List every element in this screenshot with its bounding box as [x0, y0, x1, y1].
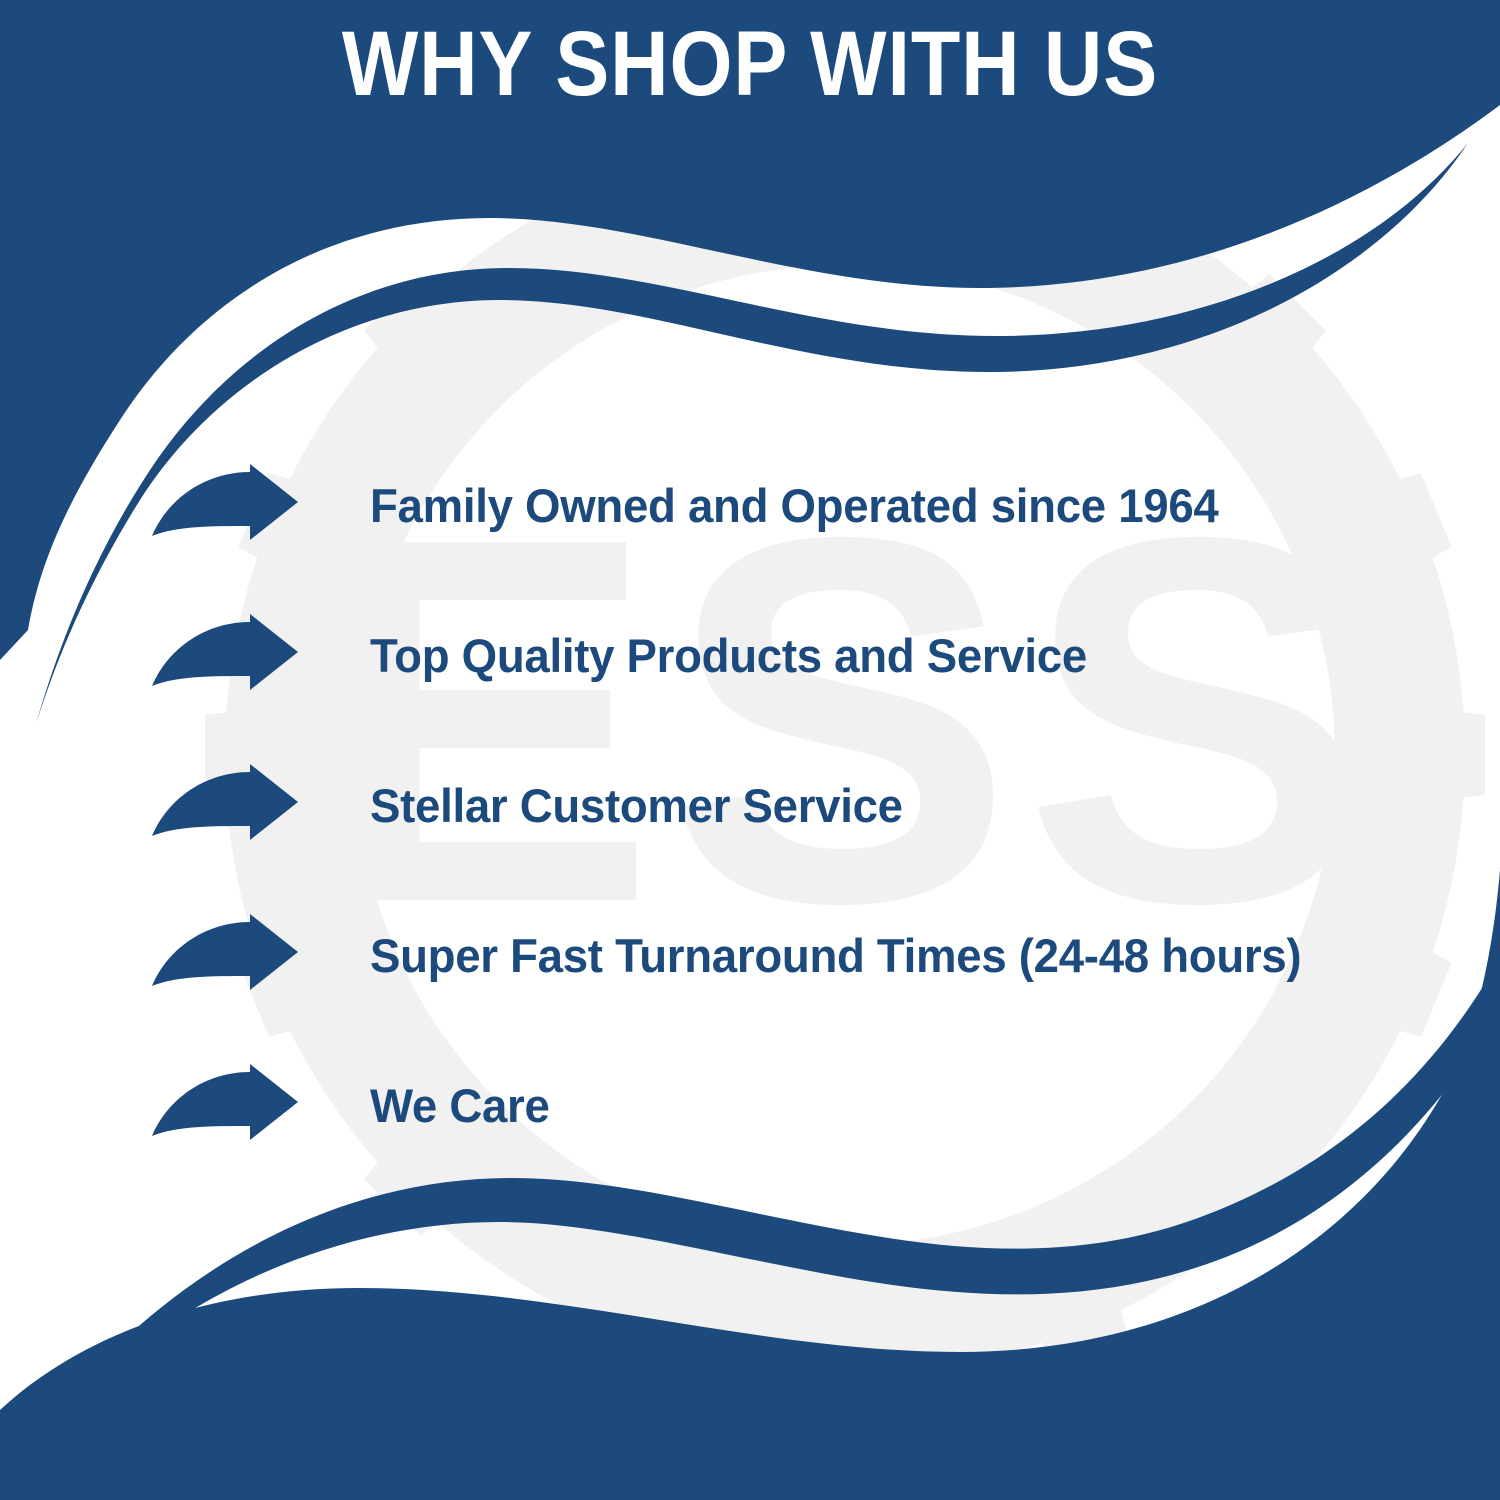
- promo-graphic: ESS WHY SHOP WITH US Family Owned and Op…: [0, 0, 1500, 1500]
- list-item-label: Super Fast Turnaround Times (24-48 hours…: [370, 928, 1408, 983]
- benefits-list: Family Owned and Operated since 1964 Top…: [150, 430, 1440, 1180]
- list-item-label: Stellar Customer Service: [370, 778, 1408, 833]
- list-item: Top Quality Products and Service: [150, 580, 1440, 730]
- page-title: WHY SHOP WITH US: [90, 16, 1410, 113]
- list-item: Family Owned and Operated since 1964: [150, 430, 1440, 580]
- curved-arrow-right-icon: [150, 614, 300, 696]
- curved-arrow-right-icon: [150, 464, 300, 546]
- list-item: We Care: [150, 1030, 1440, 1180]
- list-item-label: Top Quality Products and Service: [370, 628, 1408, 683]
- curved-arrow-right-icon: [150, 914, 300, 996]
- list-item-label: We Care: [370, 1078, 1408, 1133]
- curved-arrow-right-icon: [150, 764, 300, 846]
- list-item: Super Fast Turnaround Times (24-48 hours…: [150, 880, 1440, 1030]
- curved-arrow-right-icon: [150, 1064, 300, 1146]
- list-item-label: Family Owned and Operated since 1964: [370, 478, 1408, 533]
- list-item: Stellar Customer Service: [150, 730, 1440, 880]
